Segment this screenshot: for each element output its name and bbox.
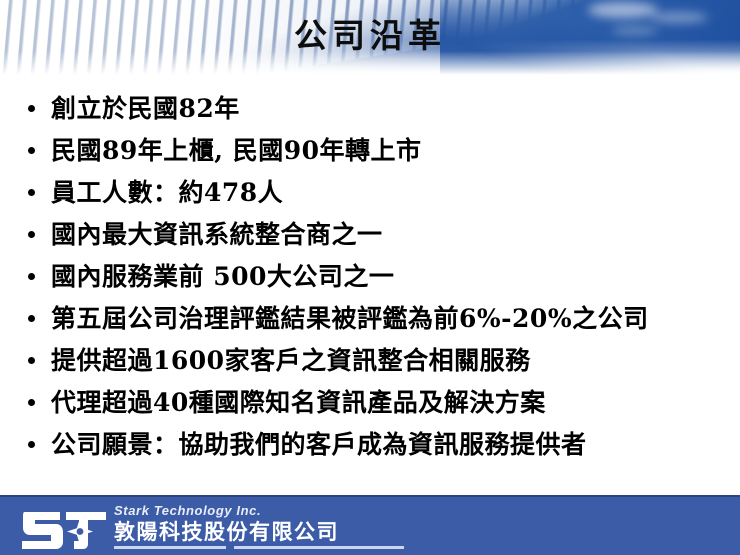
list-item-label: 代理超過40種國際知名資訊產品及解決方案 [51, 386, 546, 420]
list-item: 提供超過1600家客戶之資訊整合相關服務 [0, 344, 740, 386]
bullet-list: 創立於民國82年 民國89年上櫃, 民國90年轉上市 員工人數：約478人 國內… [0, 92, 740, 470]
bullet-dot-icon [28, 189, 35, 196]
bullet-dot-icon [28, 273, 35, 280]
list-item-label: 第五屆公司治理評鑑結果被評鑑為前6%-20%之公司 [51, 302, 649, 336]
list-item: 創立於民國82年 [0, 92, 740, 134]
list-item-label: 提供超過1600家客戶之資訊整合相關服務 [51, 344, 531, 378]
list-item-label: 公司願景：協助我們的客戶成為資訊服務提供者 [51, 428, 587, 462]
list-item: 公司願景：協助我們的客戶成為資訊服務提供者 [0, 428, 740, 470]
bullet-dot-icon [28, 441, 35, 448]
list-item: 民國89年上櫃, 民國90年轉上市 [0, 134, 740, 176]
list-item-label: 國內最大資訊系統整合商之一 [51, 218, 383, 252]
logo-underline-short [114, 546, 226, 549]
company-name-block: Stark Technology Inc. 敦陽科技股份有限公司 [114, 502, 444, 545]
bullet-dot-icon [28, 147, 35, 154]
presentation-slide: 公司沿革 創立於民國82年 民國89年上櫃, 民國90年轉上市 員工人數：約47… [0, 0, 740, 555]
list-item-label: 民國89年上櫃, 民國90年轉上市 [51, 134, 422, 168]
list-item-label: 創立於民國82年 [51, 92, 240, 126]
bullet-dot-icon [28, 399, 35, 406]
list-item: 國內服務業前 500大公司之一 [0, 260, 740, 302]
list-item: 第五屆公司治理評鑑結果被評鑑為前6%-20%之公司 [0, 302, 740, 344]
company-name-en: Stark Technology Inc. [114, 502, 444, 519]
page-title: 公司沿革 [0, 14, 740, 58]
list-item-label: 員工人數：約478人 [51, 176, 283, 210]
bullet-dot-icon [28, 105, 35, 112]
company-logo-icon [18, 504, 110, 550]
logo-underline-long [234, 546, 404, 549]
company-name-zh: 敦陽科技股份有限公司 [114, 519, 444, 545]
list-item: 員工人數：約478人 [0, 176, 740, 218]
list-item: 國內最大資訊系統整合商之一 [0, 218, 740, 260]
list-item: 代理超過40種國際知名資訊產品及解決方案 [0, 386, 740, 428]
bullet-dot-icon [28, 315, 35, 322]
slide-footer: Stark Technology Inc. 敦陽科技股份有限公司 [0, 495, 740, 555]
bullet-dot-icon [28, 357, 35, 364]
bullet-dot-icon [28, 231, 35, 238]
logo-underline-group [114, 546, 404, 551]
list-item-label: 國內服務業前 500大公司之一 [51, 260, 394, 294]
